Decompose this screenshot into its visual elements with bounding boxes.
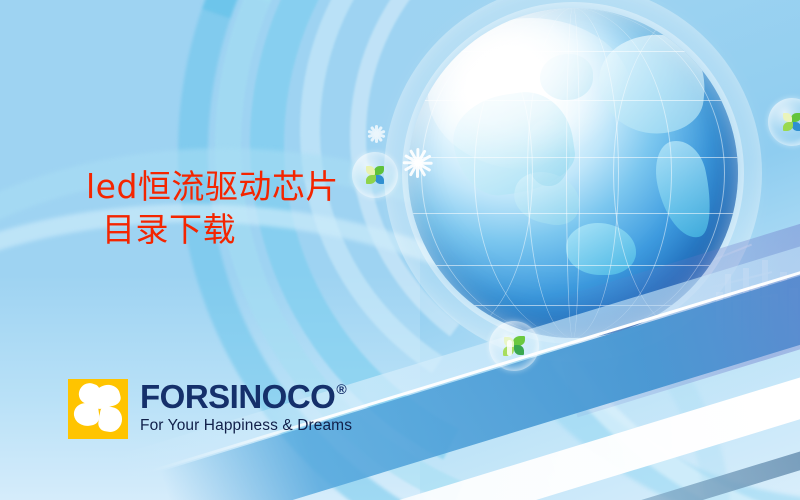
brand-name: FORSINOCO ® — [140, 380, 352, 413]
bubble-pinwheel — [352, 152, 398, 198]
bubble-leaf — [489, 321, 539, 371]
banner-canvas: led恒流驱动芯片 目录下载 FORSINOCO ® For Your Happ… — [0, 0, 800, 500]
brand-tagline: For Your Happiness & Dreams — [140, 417, 352, 435]
headline-line-1: led恒流驱动芯片 — [86, 166, 339, 209]
sparkle-flower-small-icon — [366, 124, 386, 144]
banner-headline: led恒流驱动芯片 目录下载 — [86, 166, 339, 252]
logo-text-block: FORSINOCO ® For Your Happiness & Dreams — [140, 379, 352, 435]
headline-line-2: 目录下载 — [86, 209, 339, 252]
company-logo[interactable]: FORSINOCO ® For Your Happiness & Dreams — [68, 379, 352, 439]
logo-flower-icon — [68, 379, 128, 439]
sparkle-flower-icon — [401, 147, 433, 179]
registered-trademark-icon: ® — [336, 382, 346, 396]
brand-name-text: FORSINOCO — [140, 380, 335, 413]
